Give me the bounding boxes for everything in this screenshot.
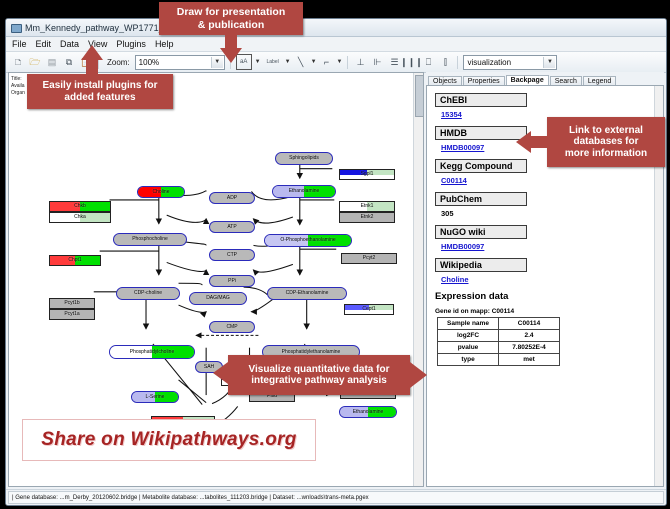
open-folder-icon[interactable]: 🗁: [28, 55, 42, 69]
callout-visualize-arrow-left-icon: [213, 362, 228, 384]
metabolite-node[interactable]: PPi: [209, 275, 255, 287]
screenshot-root: Mm_Kennedy_pathway_WP1771_45176.gpml Fil…: [0, 0, 670, 509]
new-file-icon[interactable]: 🗅: [11, 55, 25, 69]
node-label: CDP-choline: [134, 291, 162, 296]
gene-node[interactable]: Cept1: [344, 304, 394, 315]
db-link-kegg-compound[interactable]: C00114: [441, 176, 655, 185]
metabolite-node[interactable]: CDP-Ethanolamine: [267, 287, 347, 300]
node-label: CMP: [226, 325, 237, 330]
node-label: DAG/MAG: [206, 296, 230, 301]
status-text: | Gene database: ...m_Derby_20120602.bri…: [8, 491, 664, 504]
table-row: log2FC 2.4: [438, 330, 560, 342]
callout-visualize-arrow-right-icon: [410, 362, 427, 388]
callout-plugins-arrow-up-icon: [81, 45, 103, 60]
db-header-nugo-wiki: NuGO wiki: [435, 225, 527, 239]
expression-data-heading: Expression data: [435, 291, 655, 302]
gene-node[interactable]: Pcyt1a: [49, 309, 95, 320]
callout-link-arrow-left-icon: [516, 131, 531, 153]
metabolite-node[interactable]: Ethanolamine: [272, 185, 336, 198]
table-row: type met: [438, 354, 560, 366]
gene-node[interactable]: Etnk2: [339, 212, 395, 223]
gene-node[interactable]: Etnk1: [339, 201, 395, 212]
node-label: Sphingolipids: [289, 156, 319, 161]
node-label: Choline: [153, 190, 170, 195]
node-label: Cept1: [362, 307, 375, 312]
gene-id-on-mapp: Gene id on mapp: C00114: [435, 308, 655, 315]
callout-visualize: Visualize quantitative data for integrat…: [228, 355, 410, 395]
visualization-value: visualization: [467, 58, 511, 67]
callout-link: Link to external databases for more info…: [547, 117, 665, 167]
metabolite-node[interactable]: ADP: [209, 192, 255, 204]
node-label: Pcyt1b: [64, 301, 79, 306]
copy-icon[interactable]: ⧉: [62, 55, 76, 69]
db-link-wikipedia[interactable]: Choline: [441, 275, 655, 284]
node-label: ATP: [227, 225, 236, 230]
gene-node[interactable]: Sgpl1: [339, 169, 395, 180]
db-value-pubchem: 305: [441, 209, 655, 218]
metabolite-node[interactable]: L-Serine: [131, 391, 179, 403]
metabolite-node[interactable]: ATP: [209, 221, 255, 233]
label-tool-chevron-down-icon[interactable]: ▼: [285, 59, 291, 65]
table-cell-value: 2.4: [499, 330, 560, 342]
menu-bar: File Edit Data View Plugins Help: [6, 37, 666, 52]
node-label: PPi: [228, 279, 236, 284]
node-label: Ethanolamine: [353, 410, 384, 415]
status-bar: | Gene database: ...m_Derby_20120602.bri…: [6, 489, 666, 505]
visualization-combo[interactable]: visualization ▼: [463, 55, 557, 70]
zoom-label: Zoom:: [107, 58, 130, 67]
metabolite-node[interactable]: CMP: [209, 321, 255, 333]
table-cell-value: met: [499, 354, 560, 366]
node-label: Chka: [74, 215, 86, 220]
zoom-combo[interactable]: 100% ▼: [135, 55, 225, 70]
label-tool-icon[interactable]: Label: [264, 55, 282, 69]
menu-help[interactable]: Help: [155, 39, 174, 49]
db-header-chebi: ChEBI: [435, 93, 527, 107]
app-icon: [10, 22, 21, 33]
callout-plugins: Easily install plugins for added feature…: [27, 74, 173, 109]
node-label: L-Serine: [146, 395, 165, 400]
metabolite-node[interactable]: Phosphatidylcholine: [109, 345, 195, 359]
visualization-chevron-down-icon[interactable]: ▼: [543, 57, 555, 68]
line-tool-chevron-down-icon[interactable]: ▼: [311, 59, 317, 65]
node-label: CDP-Ethanolamine: [286, 291, 329, 296]
table-cell-key: Sample name: [438, 318, 499, 330]
node-label: Phosphatidylcholine: [130, 350, 174, 355]
menu-data[interactable]: Data: [60, 39, 79, 49]
metabolite-node[interactable]: CDP-choline: [116, 287, 180, 300]
menu-file[interactable]: File: [12, 39, 27, 49]
stack-icon[interactable]: ⎕: [421, 55, 435, 69]
gene-node[interactable]: Chpt1: [49, 255, 101, 266]
side-panel-tabs: Objects Properties Backpage Search Legen…: [426, 72, 664, 86]
table-cell-key: type: [438, 354, 499, 366]
text-tool-chevron-down-icon[interactable]: ▼: [255, 59, 261, 65]
node-label: Phosphatidylethanolamine: [282, 350, 341, 355]
node-label: Pcyt1a: [64, 312, 79, 317]
menu-edit[interactable]: Edit: [36, 39, 52, 49]
node-label: Phosphocholine: [132, 237, 168, 242]
group-icon[interactable]: ⫿: [438, 55, 452, 69]
share-text: Share on Wikipathways.org: [41, 429, 296, 451]
db-header-hmdb: HMDB: [435, 126, 527, 140]
db-header-kegg-compound: Kegg Compound: [435, 159, 527, 173]
canvas-vertical-scrollbar[interactable]: [413, 73, 423, 486]
callout-plugins-arrow-stem: [86, 58, 98, 76]
metabolite-node[interactable]: Phosphocholine: [113, 233, 187, 246]
save-icon[interactable]: ▤: [45, 55, 59, 69]
line-tool-icon[interactable]: ╲: [294, 55, 308, 69]
db-header-pubchem: PubChem: [435, 192, 527, 206]
node-label: Chkb: [74, 204, 86, 209]
table-cell-value: 7.80252E-4: [499, 342, 560, 354]
gene-node[interactable]: Pcyt2: [341, 253, 397, 264]
toolbar-separator-4: [457, 56, 458, 69]
toolbar-separator-3: [347, 56, 348, 69]
gene-node[interactable]: Chka: [49, 212, 111, 223]
metabolite-node[interactable]: DAG/MAG: [189, 292, 247, 305]
node-label: CTP: [227, 253, 237, 258]
align-left-icon[interactable]: ⊩: [370, 55, 384, 69]
table-cell-key: log2FC: [438, 330, 499, 342]
connector-tool-chevron-down-icon[interactable]: ▼: [337, 59, 343, 65]
connector-tool-icon[interactable]: ⌐: [320, 55, 334, 69]
node-label: Etnk1: [361, 204, 374, 209]
gene-node[interactable]: Chkb: [49, 201, 111, 212]
node-label: O-Phosphoethanolamine: [280, 238, 335, 243]
callout-share: Share on Wikipathways.org: [22, 419, 316, 461]
metabolite-node[interactable]: Choline: [137, 186, 185, 198]
scrollbar-thumb[interactable]: [415, 75, 424, 117]
node-label: Etnk2: [361, 215, 374, 220]
callout-draw-arrow-down-icon: [220, 48, 242, 63]
metabolite-node[interactable]: CTP: [209, 249, 255, 261]
node-label: Sgpl1: [361, 172, 374, 177]
node-label: Pcyt2: [363, 256, 376, 261]
table-cell-value: C00114: [499, 318, 560, 330]
node-label: Ethanolamine: [289, 189, 320, 194]
metabolite-node[interactable]: Ethanolamine: [339, 406, 397, 418]
expression-data-table: Sample name C00114 log2FC 2.4 pvalue 7.8…: [437, 317, 560, 366]
node-label: Chpt1: [68, 258, 81, 263]
table-row: Sample name C00114: [438, 318, 560, 330]
title-bar: Mm_Kennedy_pathway_WP1771_45176.gpml: [6, 19, 666, 37]
distribute-horizontal-icon[interactable]: ❙❙❙: [404, 55, 418, 69]
db-header-wikipedia: Wikipedia: [435, 258, 527, 272]
table-cell-key: pvalue: [438, 342, 499, 354]
callout-link-arrow-stem: [530, 136, 550, 148]
metabolite-node[interactable]: O-Phosphoethanolamine: [264, 234, 352, 247]
callout-draw: Draw for presentation & publication: [159, 2, 303, 35]
metabolite-node[interactable]: Sphingolipids: [275, 152, 333, 165]
zoom-value: 100%: [139, 58, 159, 67]
db-link-nugo-wiki[interactable]: HMDB00097: [441, 242, 655, 251]
table-row: pvalue 7.80252E-4: [438, 342, 560, 354]
gene-node[interactable]: Pcyt1b: [49, 298, 95, 309]
align-bottom-icon[interactable]: ⊥: [353, 55, 367, 69]
menu-plugins[interactable]: Plugins: [116, 39, 146, 49]
node-label: ADP: [227, 196, 237, 201]
